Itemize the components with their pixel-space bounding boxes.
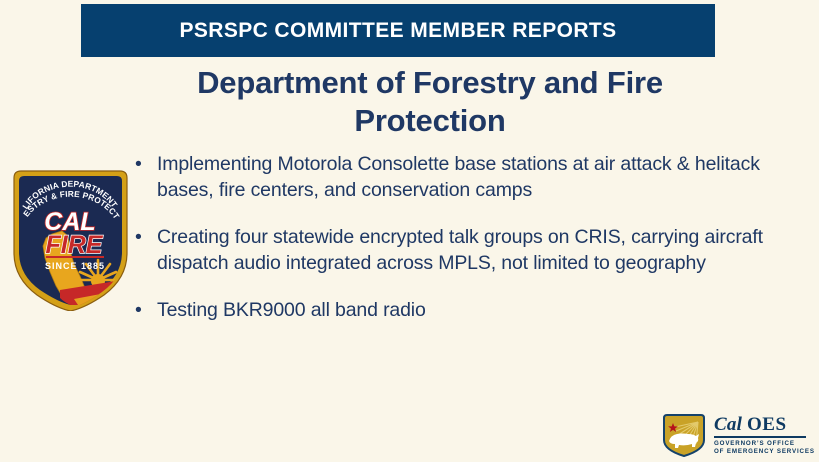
list-item-text: Testing BKR9000 all band radio (157, 299, 426, 321)
caloes-shield-icon (662, 413, 706, 458)
list-item: • Testing BKR9000 all band radio (131, 298, 791, 324)
caloes-subtitle-line-1: GOVERNOR’S OFFICE (714, 440, 815, 448)
bullet-marker-icon: • (135, 298, 142, 324)
list-item-text: Implementing Motorola Consolette base st… (157, 153, 760, 201)
calfire-since-text: SINCE 1885 (45, 261, 105, 271)
calfire-word-fire: FIRE (46, 231, 104, 259)
bullet-list: • Implementing Motorola Consolette base … (131, 152, 791, 324)
list-item-text: Creating four statewide encrypted talk g… (157, 226, 763, 274)
list-item: • Creating four statewide encrypted talk… (131, 225, 791, 277)
header-banner: PSRSPC COMMITTEE MEMBER REPORTS (81, 4, 715, 57)
caloes-name-oes: OES (747, 414, 787, 435)
caloes-wordmark: Cal OES GOVERNOR’S OFFICE OF EMERGENCY S… (714, 414, 815, 456)
bullet-marker-icon: • (135, 225, 142, 251)
caloes-divider (714, 436, 806, 437)
calfire-logo: CALIFORNIA DEPARTMENT OF FORESTRY & FIRE… (12, 168, 129, 311)
caloes-name: Cal OES (714, 415, 815, 434)
header-banner-title: PSRSPC COMMITTEE MEMBER REPORTS (179, 19, 616, 43)
caloes-logo: Cal OES GOVERNOR’S OFFICE OF EMERGENCY S… (662, 412, 810, 459)
page-title: Department of Forestry and Fire Protecti… (120, 64, 740, 140)
bullet-marker-icon: • (135, 152, 142, 178)
list-item: • Implementing Motorola Consolette base … (131, 152, 791, 204)
slide-canvas: PSRSPC COMMITTEE MEMBER REPORTS Departme… (0, 0, 819, 462)
caloes-subtitle-line-2: OF EMERGENCY SERVICES (714, 448, 815, 456)
caloes-name-cal: Cal (714, 414, 747, 435)
